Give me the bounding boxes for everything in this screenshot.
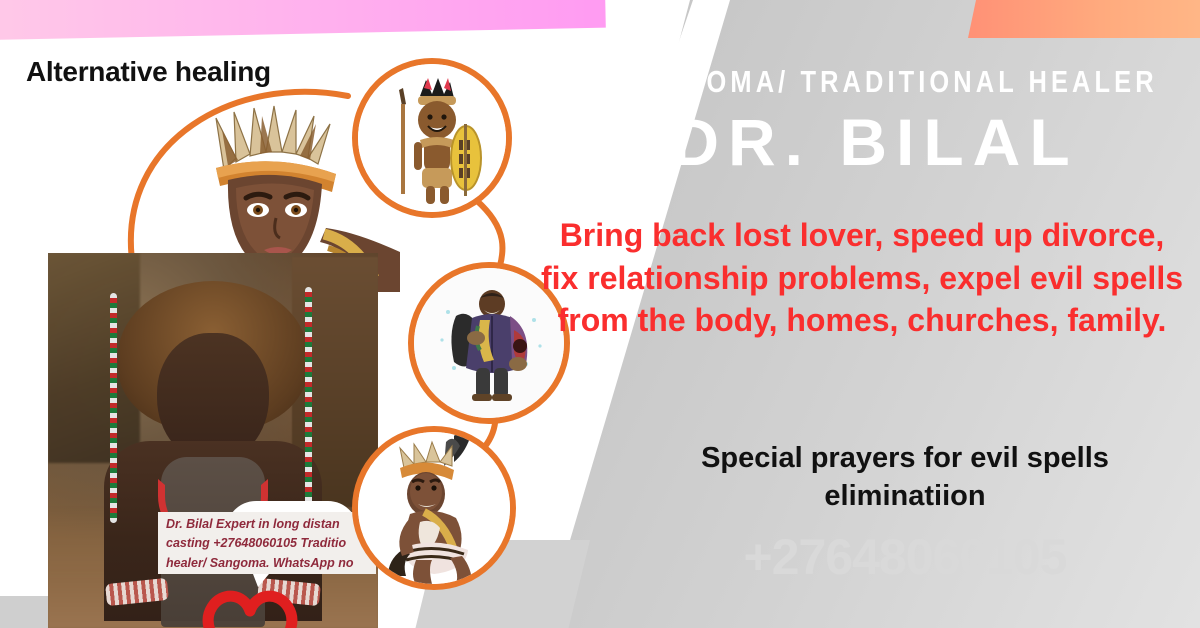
caption-line-3: healer/ Sangoma. WhatsApp no xyxy=(166,554,370,573)
caption-line-2: casting +27648060105 Traditio xyxy=(166,534,370,553)
pink-top-strip xyxy=(0,0,606,40)
special-prayers-text: Special prayers for evil spells eliminat… xyxy=(620,440,1190,515)
photo-caption-box: Dr. Bilal Expert in long distan casting … xyxy=(158,512,376,574)
gray-bottom-left-sliver xyxy=(0,596,52,628)
services-text: Bring back lost lover, speed up divorce,… xyxy=(538,214,1186,342)
kicker-text: SANGOMA/ TRADITIONAL HEALER xyxy=(617,64,1134,100)
page-title: Alternative healing xyxy=(26,56,271,88)
brand-name: DR. BILAL xyxy=(560,104,1190,180)
badge-zulu-warrior-cartoon xyxy=(352,58,512,218)
orange-top-right-strip xyxy=(968,0,1200,38)
red-heart-outline xyxy=(196,583,304,628)
bead-strand-left xyxy=(110,293,117,523)
badge-crouching-warrior xyxy=(352,426,516,590)
bead-strand-right xyxy=(305,287,312,527)
caption-line-1: Dr. Bilal Expert in long distan xyxy=(166,515,370,534)
poster-canvas: Alternative healing xyxy=(0,0,1200,628)
zulu-warrior-cartoon-icon xyxy=(358,64,506,212)
crouching-warrior-icon xyxy=(358,432,510,584)
phone-watermark: +27648060105 xyxy=(620,528,1190,586)
